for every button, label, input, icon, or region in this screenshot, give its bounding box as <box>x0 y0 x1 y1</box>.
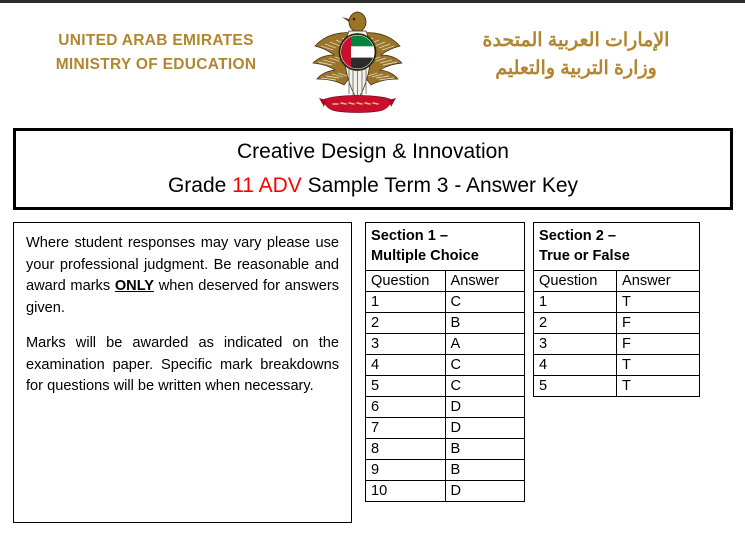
ministry-name-english: UNITED ARAB EMIRATES MINISTRY OF EDUCATI… <box>8 29 304 77</box>
section-1-answer-7: D <box>445 418 525 439</box>
table-row: 3 F <box>534 334 700 355</box>
table-row: 3 A <box>366 334 525 355</box>
section-1-question-7: 7 <box>366 418 446 439</box>
section-1-question-8: 8 <box>366 439 446 460</box>
section-2-col-answer: Answer <box>617 271 700 292</box>
exam-grade-level: 11 ADV <box>232 174 302 197</box>
table-row: 5 T <box>534 376 700 397</box>
section-1-question-3: 3 <box>366 334 446 355</box>
table-row: 1 C <box>366 292 525 313</box>
marking-instructions-box: Where student responses may vary please … <box>13 222 352 523</box>
exam-subject-text: Creative Design & Innovation <box>237 140 509 163</box>
section-2-answer-5: T <box>617 376 700 397</box>
section-1-question-2: 2 <box>366 313 446 334</box>
section-1-column-header-row: Question Answer <box>366 271 525 292</box>
exam-grade-prefix: Grade <box>168 174 232 197</box>
exam-grade-suffix: Sample Term 3 - Answer Key <box>302 174 578 197</box>
section-1-question-5: 5 <box>366 376 446 397</box>
section-2-answer-3: F <box>617 334 700 355</box>
ministry-name-arabic-line1: الإمارات العربية المتحدة <box>418 27 734 55</box>
ministry-name-english-line1: UNITED ARAB EMIRATES <box>8 29 304 53</box>
section-1-question-6: 6 <box>366 397 446 418</box>
section-1-heading-line1: Section 1 – <box>371 228 448 244</box>
section-2-answer-1: T <box>617 292 700 313</box>
section-1-heading: Section 1 – Multiple Choice <box>366 223 525 271</box>
section-1-answer-8: B <box>445 439 525 460</box>
section-2-heading: Section 2 – True or False <box>534 223 700 271</box>
table-row: 2 B <box>366 313 525 334</box>
section-1-col-answer: Answer <box>445 271 525 292</box>
table-row: 7 D <box>366 418 525 439</box>
table-row: 5 C <box>366 376 525 397</box>
section-1-answer-4: C <box>445 355 525 376</box>
section-2-column-header-row: Question Answer <box>534 271 700 292</box>
table-row: 9 B <box>366 460 525 481</box>
section-1-heading-line2: Multiple Choice <box>371 248 479 264</box>
section-2-answer-4: T <box>617 355 700 376</box>
section-1-answer-2: B <box>445 313 525 334</box>
instructions-emphasis-only: ONLY <box>115 278 154 294</box>
exam-title-box: Creative Design & Innovation Grade 11 AD… <box>13 128 733 210</box>
exam-subject-title: Creative Design & Innovation <box>237 135 509 169</box>
section-1-answer-5: C <box>445 376 525 397</box>
uae-falcon-emblem-icon <box>305 8 410 116</box>
section-1-answer-10: D <box>445 481 525 502</box>
section-1-question-1: 1 <box>366 292 446 313</box>
section-2-heading-row: Section 2 – True or False <box>534 223 700 271</box>
table-row: 10 D <box>366 481 525 502</box>
section-2-answer-2: F <box>617 313 700 334</box>
section-2-question-5: 5 <box>534 376 617 397</box>
table-row: 6 D <box>366 397 525 418</box>
section-1-answer-6: D <box>445 397 525 418</box>
section-2-question-1: 1 <box>534 292 617 313</box>
section-2-answer-table: Section 2 – True or False Question Answe… <box>533 222 700 397</box>
ministry-name-english-line2: MINISTRY OF EDUCATION <box>8 53 304 77</box>
section-1-answer-3: A <box>445 334 525 355</box>
section-1-question-10: 10 <box>366 481 446 502</box>
ministry-name-arabic: الإمارات العربية المتحدة وزارة التربية و… <box>418 27 734 83</box>
instructions-paragraph-1: Where student responses may vary please … <box>26 233 339 319</box>
section-1-answer-table: Section 1 – Multiple Choice Question Ans… <box>365 222 525 502</box>
section-2-col-question: Question <box>534 271 617 292</box>
exam-grade-title: Grade 11 ADV Sample Term 3 - Answer Key <box>168 169 578 203</box>
section-2-heading-line1: Section 2 – <box>539 228 616 244</box>
table-row: 4 C <box>366 355 525 376</box>
table-row: 1 T <box>534 292 700 313</box>
section-2-question-3: 3 <box>534 334 617 355</box>
section-1-question-4: 4 <box>366 355 446 376</box>
section-2-question-4: 4 <box>534 355 617 376</box>
section-1-col-question: Question <box>366 271 446 292</box>
ministry-name-arabic-line2: وزارة التربية والتعليم <box>418 55 734 83</box>
section-1-question-9: 9 <box>366 460 446 481</box>
section-1-heading-row: Section 1 – Multiple Choice <box>366 223 525 271</box>
section-2-heading-line2: True or False <box>539 248 630 264</box>
document-header: UNITED ARAB EMIRATES MINISTRY OF EDUCATI… <box>0 3 745 117</box>
table-row: 2 F <box>534 313 700 334</box>
section-1-answer-1: C <box>445 292 525 313</box>
section-2-question-2: 2 <box>534 313 617 334</box>
table-row: 8 B <box>366 439 525 460</box>
section-1-answer-9: B <box>445 460 525 481</box>
instructions-paragraph-2: Marks will be awarded as indicated on th… <box>26 333 339 398</box>
table-row: 4 T <box>534 355 700 376</box>
